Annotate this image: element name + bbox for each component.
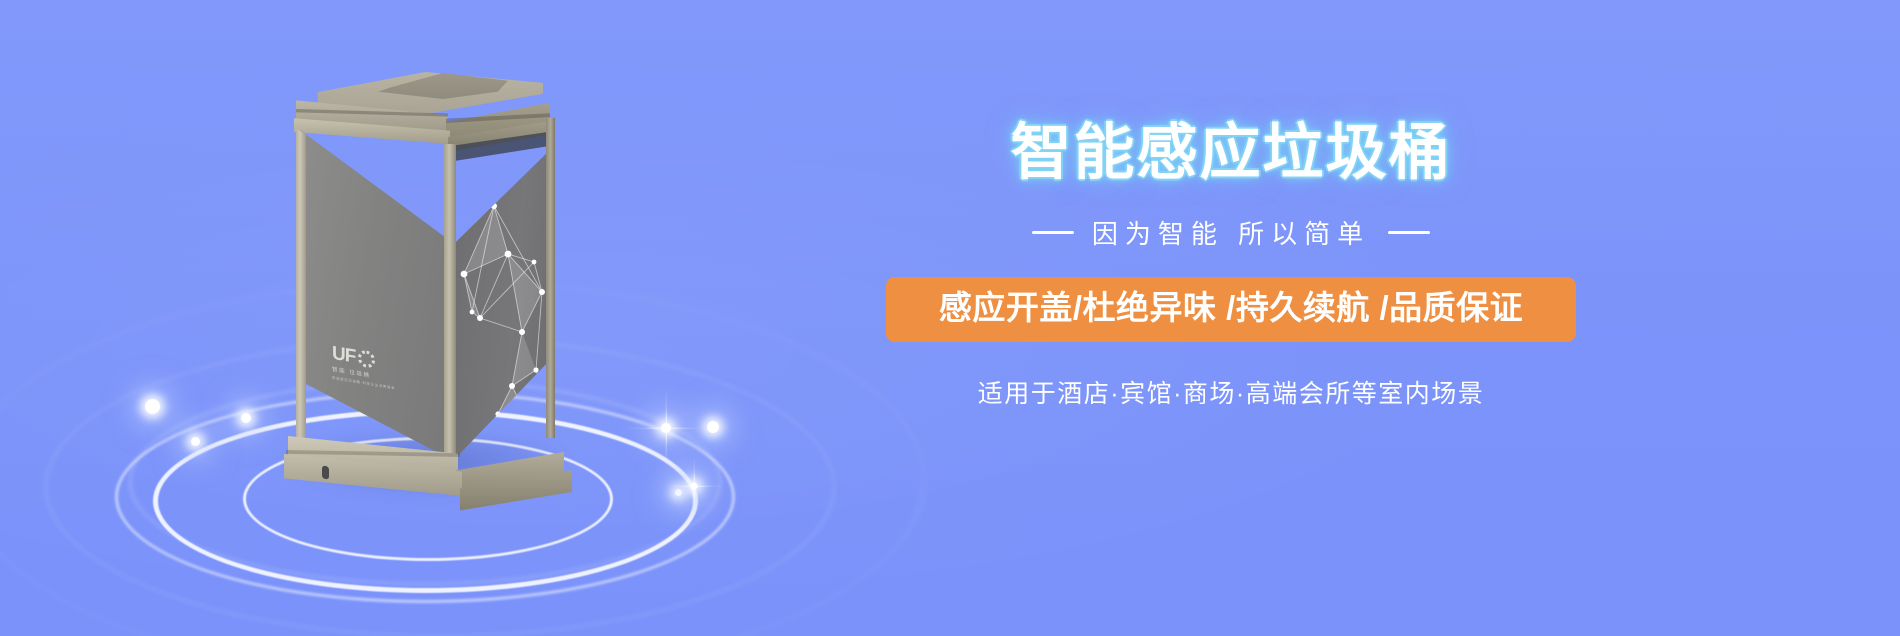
corner-post-right [546,118,555,438]
glow-dot-2 [191,437,200,446]
marketing-copy: 智能感应垃圾桶 因为智能 所以简单 感应开盖/杜绝异味 /持久续航 /品质保证 … [886,120,1576,410]
product-visual: UF 智能 垃圾桶 智能感应垃圾桶·科技让生活更简单 [60,20,800,636]
features-strip-text: 感应开盖/杜绝异味 /持久续航 /品质保证 [904,290,1558,327]
glow-dot-1 [145,399,160,414]
features-strip: 感应开盖/杜绝异味 /持久续航 /品质保证 [886,277,1576,342]
smart-trash-can: UF 智能 垃圾桶 智能感应垃圾桶·科技让生活更简单 [260,68,580,488]
subtitle-row: 因为智能 所以简单 [886,214,1576,251]
sensor-port-icon [322,465,329,479]
body-panel-left [300,130,452,460]
corner-post-center [444,144,456,466]
footnote: 适用于酒店·宾馆·商场·高端会所等室内场景 [886,374,1576,410]
corner-post-left [296,128,306,450]
subtitle-text: 因为智能 所以简单 [1092,214,1370,251]
headline: 智能感应垃圾桶 [886,120,1576,186]
banner-stage: UF 智能 垃圾桶 智能感应垃圾桶·科技让生活更简单 智能感应垃圾桶 因为智能 … [0,0,1900,636]
glow-dot-3 [241,413,251,423]
sparkle-2 [663,455,725,517]
dash-right-icon [1388,231,1430,234]
ufo-logo-wordmark: UF [332,344,355,367]
dash-left-icon [1032,231,1074,234]
network-graphic [450,146,554,464]
ufo-logo-ring-icon [358,349,375,369]
